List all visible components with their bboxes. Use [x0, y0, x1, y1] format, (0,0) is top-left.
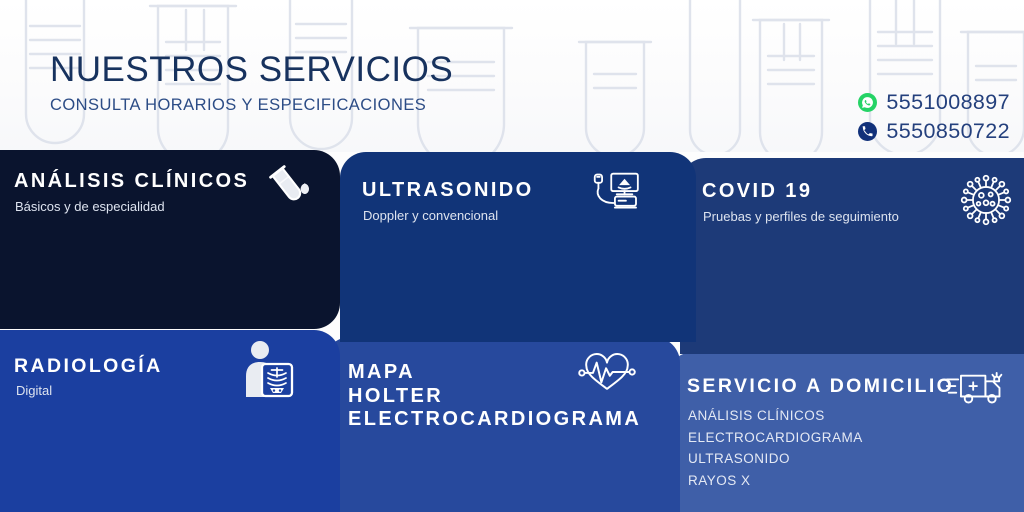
- card-title: SERVICIO A DOMICILIO: [687, 375, 954, 398]
- list-item: ELECTROCARDIOGRAMA: [688, 427, 863, 449]
- card-servicio-a-domicilio[interactable]: SERVICIO A DOMICILIO ANÁLISIS CLÍNICOS E…: [667, 352, 1024, 512]
- page-title: NUESTROS SERVICIOS: [50, 52, 453, 87]
- card-title: COVID 19: [702, 180, 812, 204]
- header-title-block: NUESTROS SERVICIOS CONSULTA HORARIOS Y E…: [50, 52, 453, 115]
- test-tube-icon: [266, 163, 312, 214]
- card-subtitle: Doppler y convencional: [363, 208, 498, 223]
- card-covid-19[interactable]: COVID 19 Pruebas y perfiles de seguimien…: [680, 158, 1024, 354]
- card-analisis-clinicos[interactable]: ANÁLISIS CLÍNICOS Básicos y de especiali…: [0, 150, 340, 329]
- card-mapa-holter[interactable]: MAPA HOLTER ELECTROCARDIOGRAMA: [324, 337, 680, 512]
- whatsapp-icon: [858, 93, 877, 112]
- contact-whatsapp[interactable]: 5551008897: [858, 88, 1010, 117]
- card-title: ULTRASONIDO: [362, 179, 534, 203]
- list-item: ULTRASONIDO: [688, 448, 863, 470]
- contact-phone[interactable]: 5550850722: [858, 117, 1010, 146]
- contact-number-phone: 5550850722: [886, 119, 1010, 144]
- card-subtitle: Pruebas y perfiles de seguimiento: [703, 209, 899, 224]
- ultrasound-machine-icon: [588, 170, 640, 219]
- list-item: RAYOS X: [688, 470, 863, 492]
- card-subtitle: Digital: [16, 383, 52, 398]
- card-title: ANÁLISIS CLÍNICOS: [14, 170, 249, 194]
- page-subtitle: CONSULTA HORARIOS Y ESPECIFICACIONES: [50, 96, 453, 115]
- domicilio-service-list: ANÁLISIS CLÍNICOS ELECTROCARDIOGRAMA ULT…: [688, 405, 863, 491]
- card-radiologia[interactable]: RADIOLOGÍA Digital: [0, 330, 340, 512]
- card-ultrasonido[interactable]: ULTRASONIDO Doppler y convencional: [340, 152, 696, 342]
- virus-icon: [958, 172, 1014, 233]
- heart-ecg-icon: [577, 350, 637, 399]
- services-banner: NUESTROS SERVICIOS CONSULTA HORARIOS Y E…: [0, 0, 1024, 512]
- phone-icon: [858, 122, 877, 141]
- list-item: ANÁLISIS CLÍNICOS: [688, 405, 863, 427]
- card-title-line-3: ELECTROCARDIOGRAMA: [348, 408, 641, 432]
- card-title: RADIOLOGÍA: [14, 355, 163, 378]
- ambulance-icon: [945, 367, 1007, 412]
- card-subtitle: Básicos y de especialidad: [15, 199, 165, 214]
- contact-number-whatsapp: 5551008897: [886, 90, 1010, 115]
- contact-list: 5551008897 5550850722: [858, 88, 1010, 146]
- xray-person-icon: [238, 339, 294, 404]
